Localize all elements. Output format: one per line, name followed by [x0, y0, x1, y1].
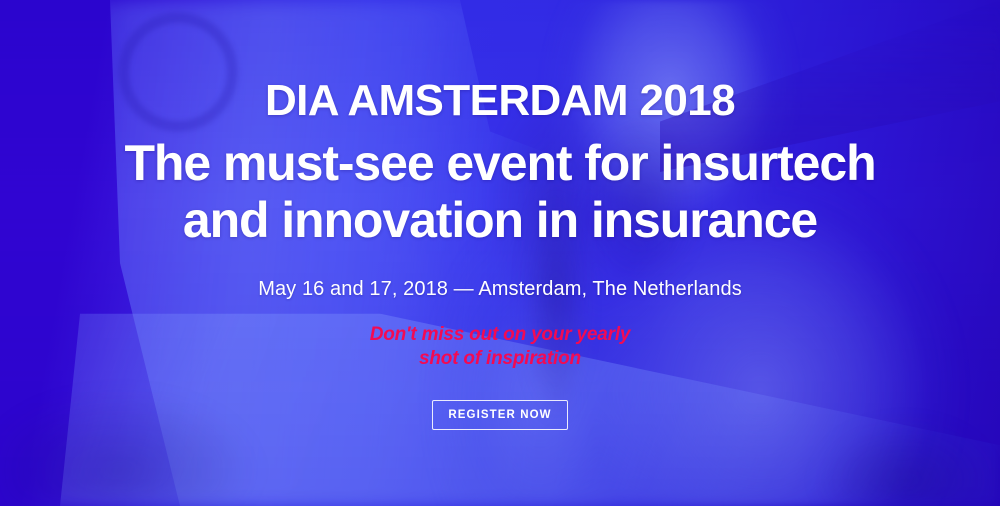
tagline-line-1: The must-see event for insurtech — [124, 135, 875, 192]
tagline-line-2: and innovation in insurance — [124, 192, 875, 249]
kicker-line-1: Don't miss out on your yearly — [370, 323, 631, 347]
event-kicker: Don't miss out on your yearly shot of in… — [370, 301, 631, 371]
event-hero-banner: DIA AMSTERDAM 2018 The must-see event fo… — [0, 0, 1000, 506]
hero-content: DIA AMSTERDAM 2018 The must-see event fo… — [0, 0, 1000, 506]
register-now-button[interactable]: REGISTER NOW — [432, 400, 568, 430]
kicker-line-2: shot of inspiration — [370, 347, 631, 371]
event-headline: DIA AMSTERDAM 2018 — [265, 0, 735, 123]
event-tagline: The must-see event for insurtech and inn… — [124, 123, 875, 249]
event-date-location: May 16 and 17, 2018 — Amsterdam, The Net… — [258, 249, 742, 301]
